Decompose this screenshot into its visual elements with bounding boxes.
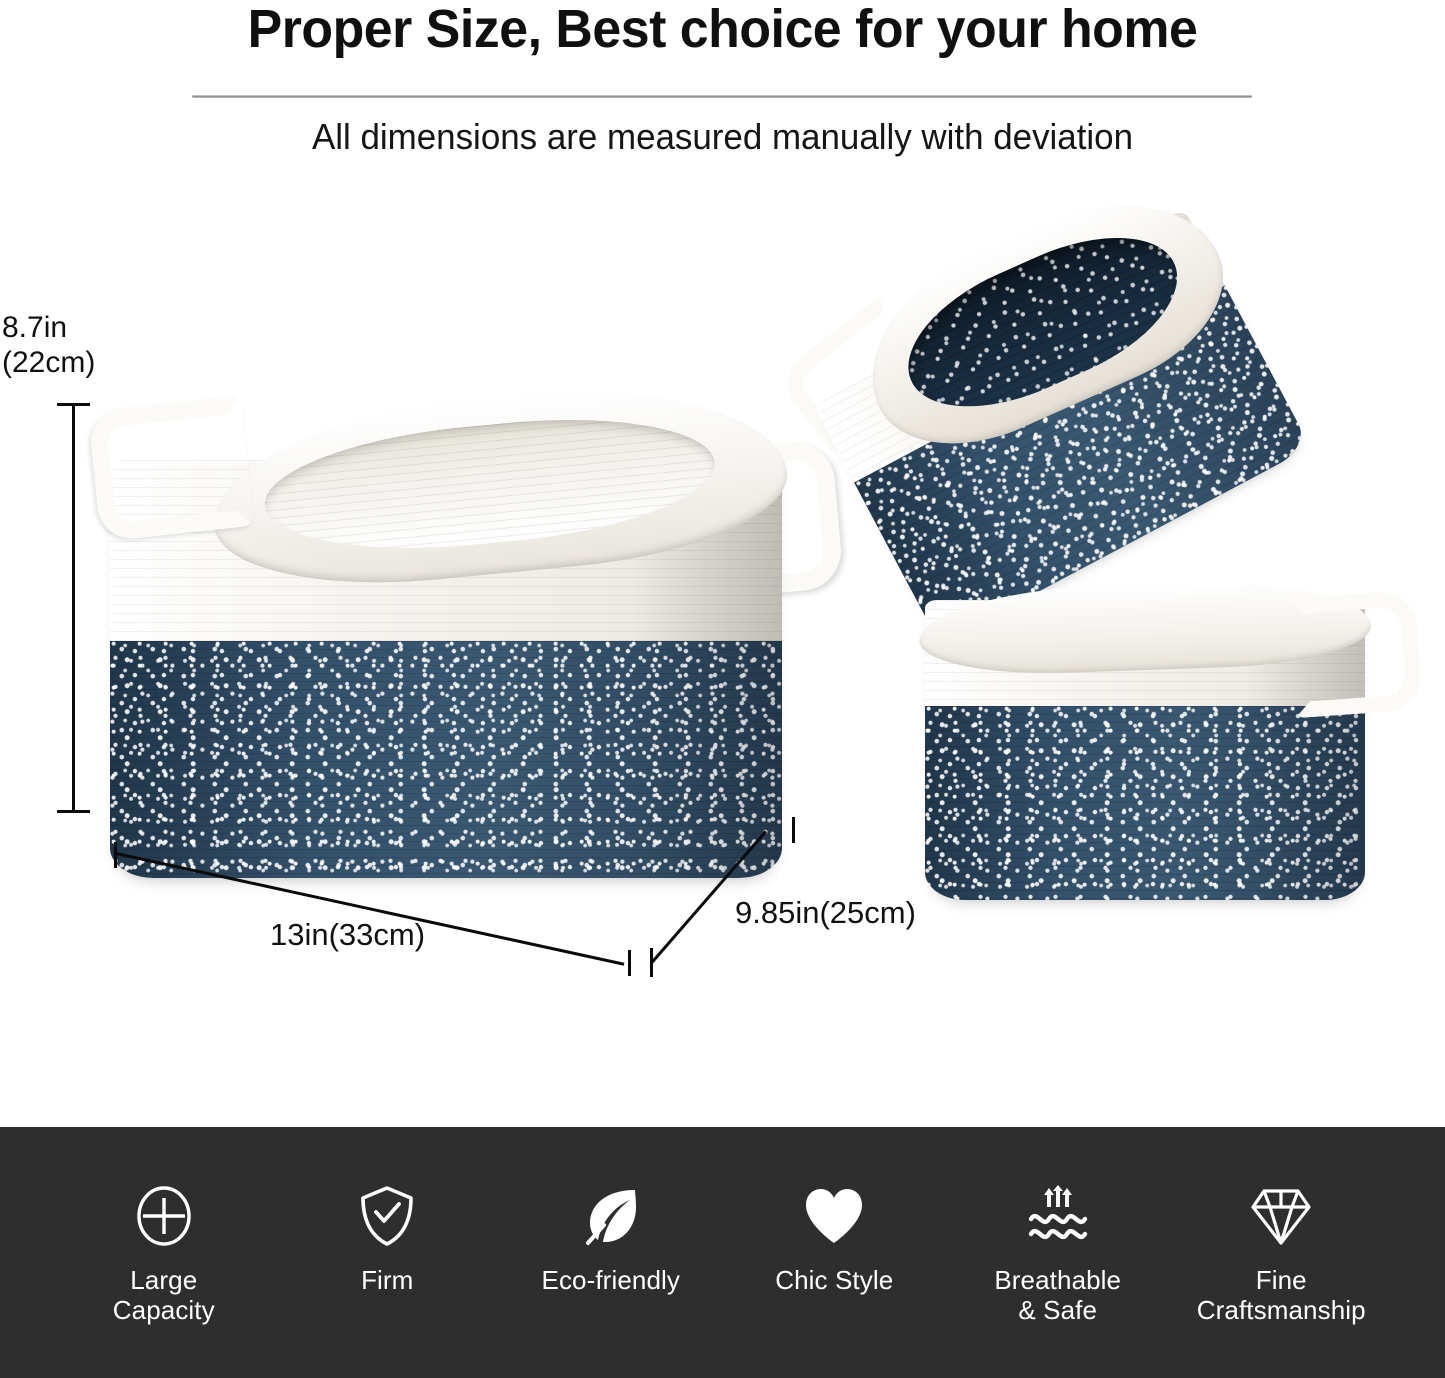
- breathable-waves-icon: [1025, 1183, 1091, 1249]
- feature-large-capacity: Large Capacity: [52, 1183, 276, 1325]
- feature-label: Breathable & Safe: [994, 1265, 1121, 1325]
- shield-check-icon: [354, 1183, 420, 1249]
- width-dim-cap-right: [628, 950, 631, 976]
- leaf-icon: [578, 1183, 644, 1249]
- feature-breathable-safe: Breathable & Safe: [946, 1183, 1170, 1325]
- height-dimension-label: 8.7in (22cm): [2, 310, 122, 380]
- feature-fine-craftsmanship: Fine Craftsmanship: [1170, 1183, 1394, 1325]
- header-divider: [192, 95, 1252, 98]
- basket-interior: [259, 404, 720, 565]
- depth-dimension-label: 9.85in(25cm): [735, 895, 916, 931]
- feature-label: Eco-friendly: [542, 1265, 680, 1295]
- feature-label: Chic Style: [775, 1265, 893, 1295]
- circle-plus-icon: [131, 1183, 197, 1249]
- feature-chic-style: Chic Style: [723, 1183, 947, 1295]
- depth-dim-cap-right: [792, 817, 795, 843]
- feature-bar: Large Capacity Firm Eco-friendly: [0, 1127, 1445, 1378]
- feature-label: Firm: [361, 1265, 413, 1295]
- feature-firm: Firm: [276, 1183, 500, 1295]
- height-dim-cap-bottom: [57, 810, 90, 813]
- basket-handle-icon: [1287, 590, 1423, 719]
- width-dimension-label: 13in(33cm): [270, 917, 425, 953]
- feature-label: Large Capacity: [113, 1265, 215, 1325]
- diamond-icon: [1248, 1183, 1314, 1249]
- basket-handle-left-icon: [88, 396, 255, 541]
- feature-label: Fine Craftsmanship: [1197, 1265, 1366, 1325]
- basket-lower-right: [905, 560, 1405, 900]
- page-title: Proper Size, Best choice for your home: [29, 0, 1416, 60]
- feature-eco-friendly: Eco-friendly: [499, 1183, 723, 1295]
- infographic-canvas: Proper Size, Best choice for your home A…: [0, 0, 1445, 1378]
- height-dim-line: [72, 404, 75, 812]
- basket-navy-band: [110, 641, 782, 878]
- heart-icon: [801, 1183, 867, 1249]
- main-basket-front: [92, 398, 832, 878]
